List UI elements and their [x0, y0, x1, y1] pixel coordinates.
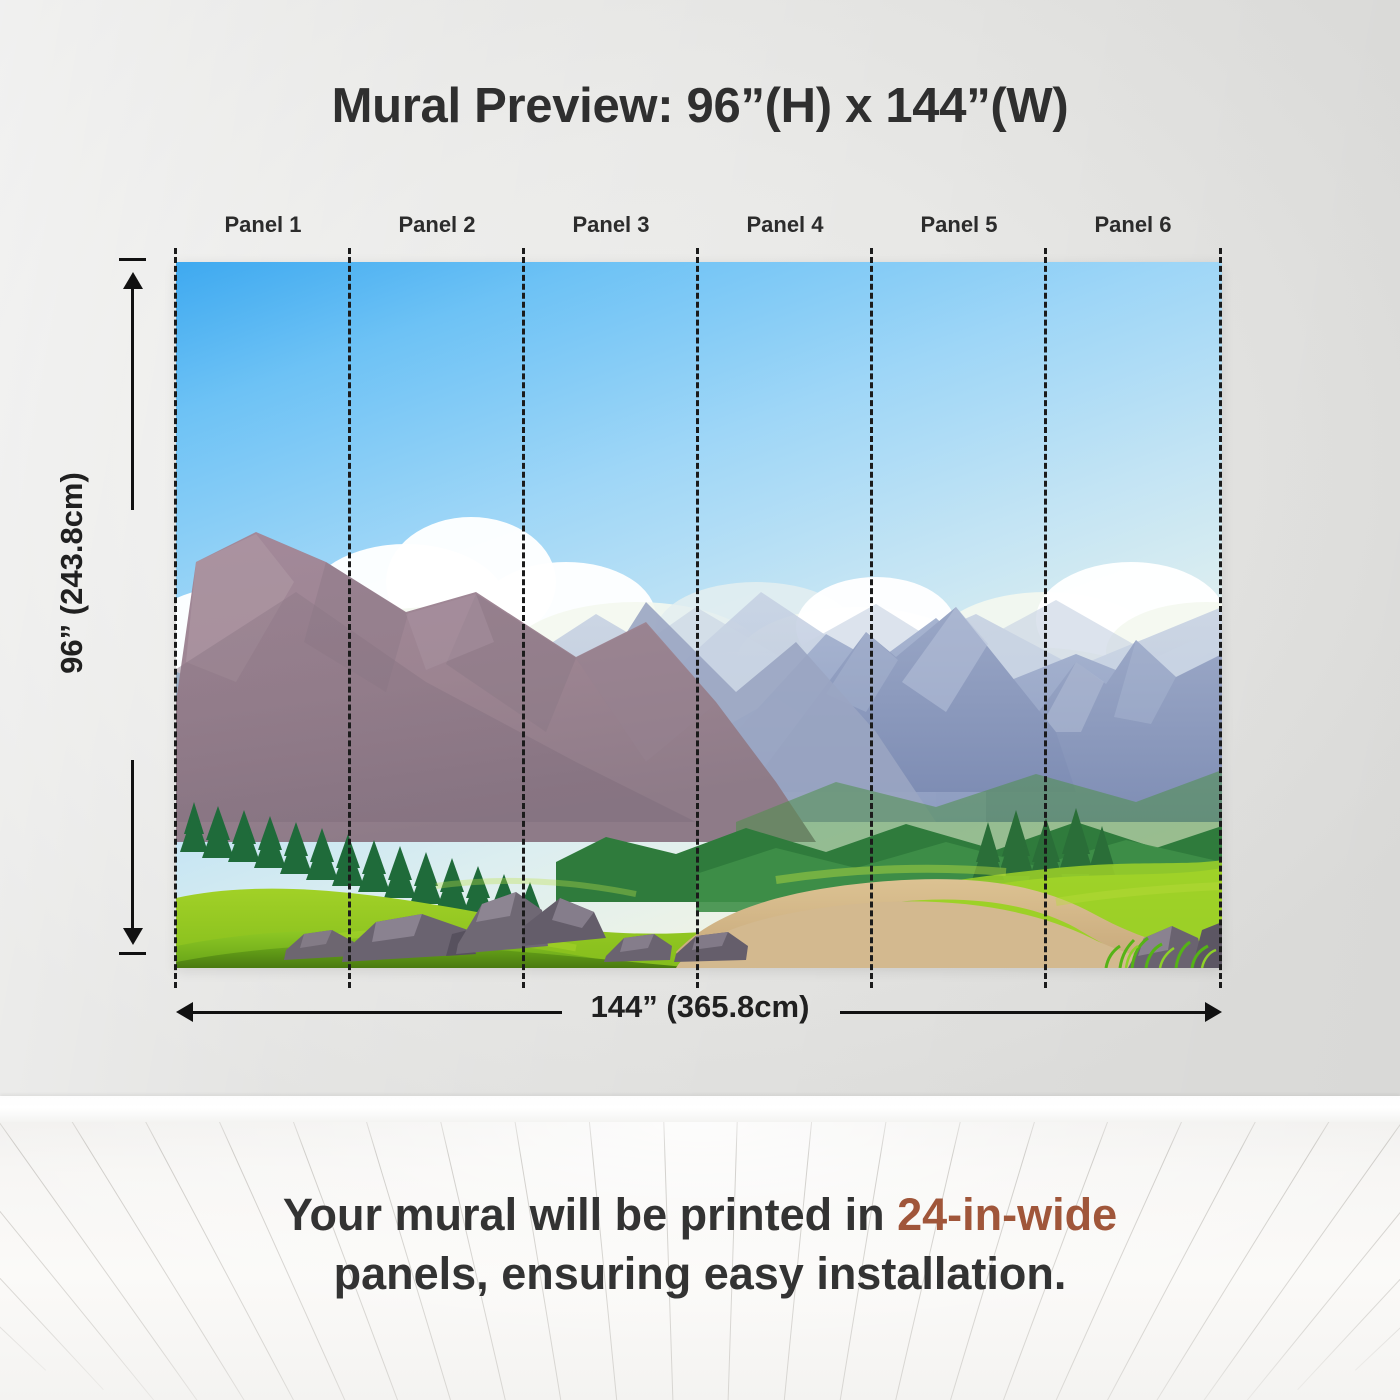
panel-label-4: Panel 4 [698, 212, 872, 238]
height-arrow-down [123, 928, 143, 945]
height-cap-top [119, 258, 146, 261]
panel-label-6: Panel 6 [1046, 212, 1220, 238]
caption-line-1-prefix: Your mural will be printed in [283, 1189, 897, 1240]
page-title: Mural Preview: 96”(H) x 144”(W) [0, 78, 1400, 134]
cutline-right-edge [1219, 248, 1222, 988]
cutline-2 [522, 248, 525, 988]
caption-accent: 24-in-wide [897, 1189, 1117, 1240]
panel-label-5: Panel 5 [872, 212, 1046, 238]
cutline-4 [870, 248, 873, 988]
cutline-left-edge [174, 248, 177, 988]
baseboard [0, 1096, 1400, 1122]
mural-artwork [176, 262, 1222, 968]
height-line-upper [131, 280, 134, 510]
cutline-3 [696, 248, 699, 988]
panel-label-2: Panel 2 [350, 212, 524, 238]
height-cap-bottom [119, 952, 146, 955]
mural-preview-stage: Mural Preview: 96”(H) x 144”(W) Panel 1 … [0, 0, 1400, 1400]
height-line-lower [131, 760, 134, 930]
panel-label-1: Panel 1 [176, 212, 350, 238]
caption: Your mural will be printed in 24-in-wide… [0, 1185, 1400, 1304]
width-label: 144” (365.8cm) [0, 989, 1400, 1025]
height-label: 96” (243.8cm) [54, 443, 90, 703]
width-label-text: 144” (365.8cm) [577, 989, 824, 1024]
cutline-5 [1044, 248, 1047, 988]
landscape-vector [176, 262, 1222, 968]
caption-line-2: panels, ensuring easy installation. [0, 1244, 1400, 1303]
cutline-1 [348, 248, 351, 988]
caption-line-1: Your mural will be printed in 24-in-wide [0, 1185, 1400, 1244]
panel-label-3: Panel 3 [524, 212, 698, 238]
